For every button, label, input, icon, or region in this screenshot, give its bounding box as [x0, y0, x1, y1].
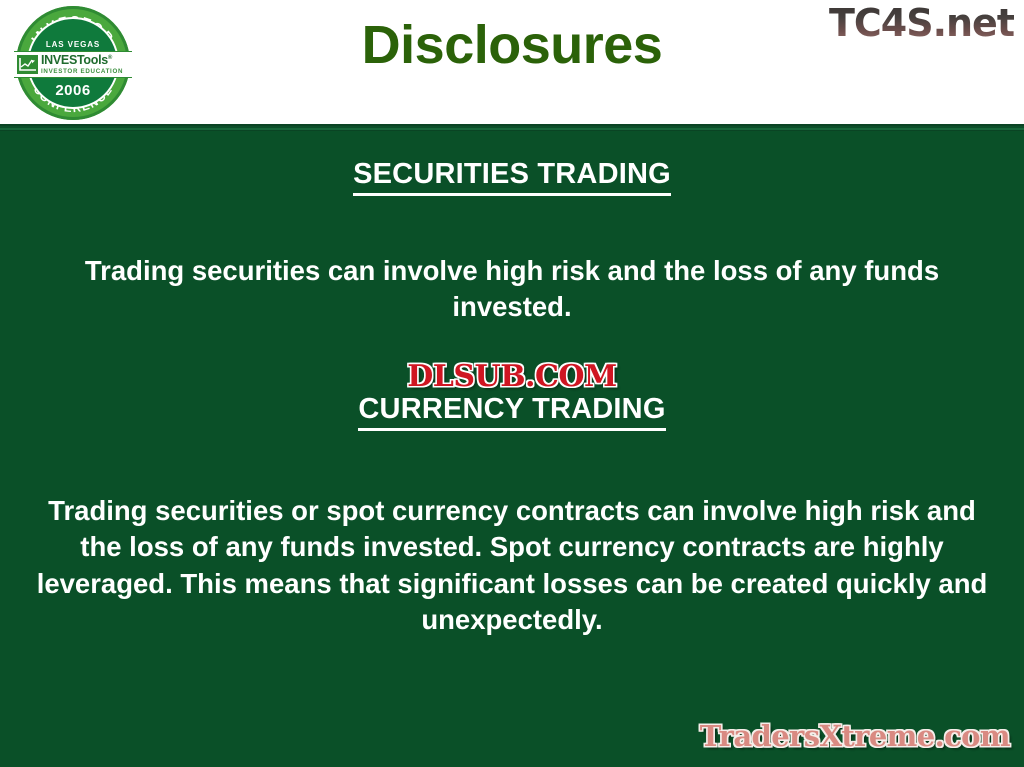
- section-paragraph-securities-trading: Trading securities can involve high risk…: [0, 253, 1024, 326]
- section-heading-currency-trading-label: CURRENCY TRADING: [358, 393, 665, 431]
- header-divider: [0, 124, 1024, 131]
- header-divider-highlight: [0, 128, 1024, 130]
- dlsub-watermark: DLSUB.COM: [0, 359, 1024, 394]
- slide-body: SECURITIES TRADING Trading securities ca…: [0, 131, 1024, 767]
- seal-year-label: 2006: [12, 82, 134, 99]
- section-heading-securities-trading: SECURITIES TRADING: [0, 158, 1024, 191]
- tc4s-brand-wordmark: TC4S.net: [829, 2, 1014, 46]
- slide: INVESTOR CONFERENCE LAS VEGAS: [0, 0, 1024, 767]
- section-paragraph-currency-trading: Trading securities or spot currency cont…: [0, 493, 1024, 638]
- tradersxtreme-brand-wordmark: TradersXtreme.com: [700, 719, 1010, 753]
- slide-header: INVESTOR CONFERENCE LAS VEGAS: [0, 0, 1024, 127]
- section-heading-currency-trading: CURRENCY TRADING: [0, 393, 1024, 426]
- section-heading-securities-trading-label: SECURITIES TRADING: [353, 158, 671, 196]
